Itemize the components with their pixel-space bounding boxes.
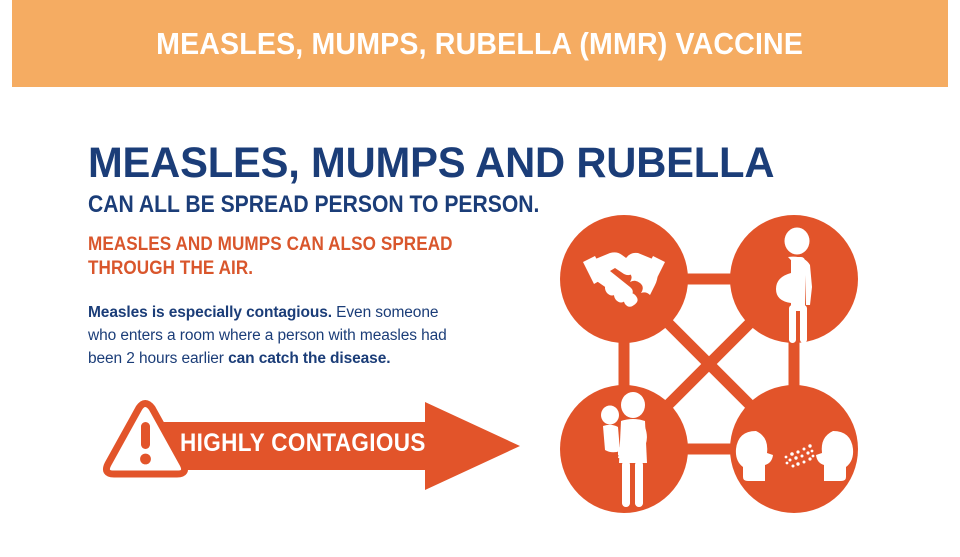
diagram-node-handshake <box>560 215 688 343</box>
diagram-node-pregnant-person <box>730 215 858 343</box>
headline-sub: CAN ALL BE SPREAD PERSON TO PERSON. <box>88 192 502 218</box>
handshake-circle <box>560 215 688 343</box>
transmission-diagram <box>560 215 900 515</box>
diagram-node-parent-baby <box>560 385 688 513</box>
arrow-banner-label: HIGHLY CONTAGIOUS <box>180 429 426 458</box>
headline-orange-line-2: THROUGH THE AIR. <box>88 257 466 281</box>
warning-triangle-icon <box>106 404 184 475</box>
transmission-diagram-graphic <box>560 215 900 515</box>
page-title: MEASLES, MUMPS, RUBELLA (MMR) VACCINE <box>157 26 804 62</box>
headline-orange-line-1: MEASLES AND MUMPS CAN ALSO SPREAD <box>88 234 453 255</box>
header-banner: MEASLES, MUMPS, RUBELLA (MMR) VACCINE <box>12 0 948 87</box>
body-paragraph: Measles is especially contagious. Even s… <box>88 301 468 370</box>
headline-main: MEASLES, MUMPS AND RUBELLA <box>88 140 544 186</box>
text-column: MEASLES, MUMPS AND RUBELLA CAN ALL BE SP… <box>88 140 558 370</box>
diagram-node-sneezing-heads <box>730 385 858 513</box>
body-bold-lead: Measles is especially contagious. <box>88 304 332 321</box>
body-bold-tail: can catch the disease. <box>228 350 390 367</box>
headline-orange: MEASLES AND MUMPS CAN ALSO SPREAD THROUG… <box>88 233 466 281</box>
highly-contagious-banner: HIGHLY CONTAGIOUS <box>95 400 525 492</box>
